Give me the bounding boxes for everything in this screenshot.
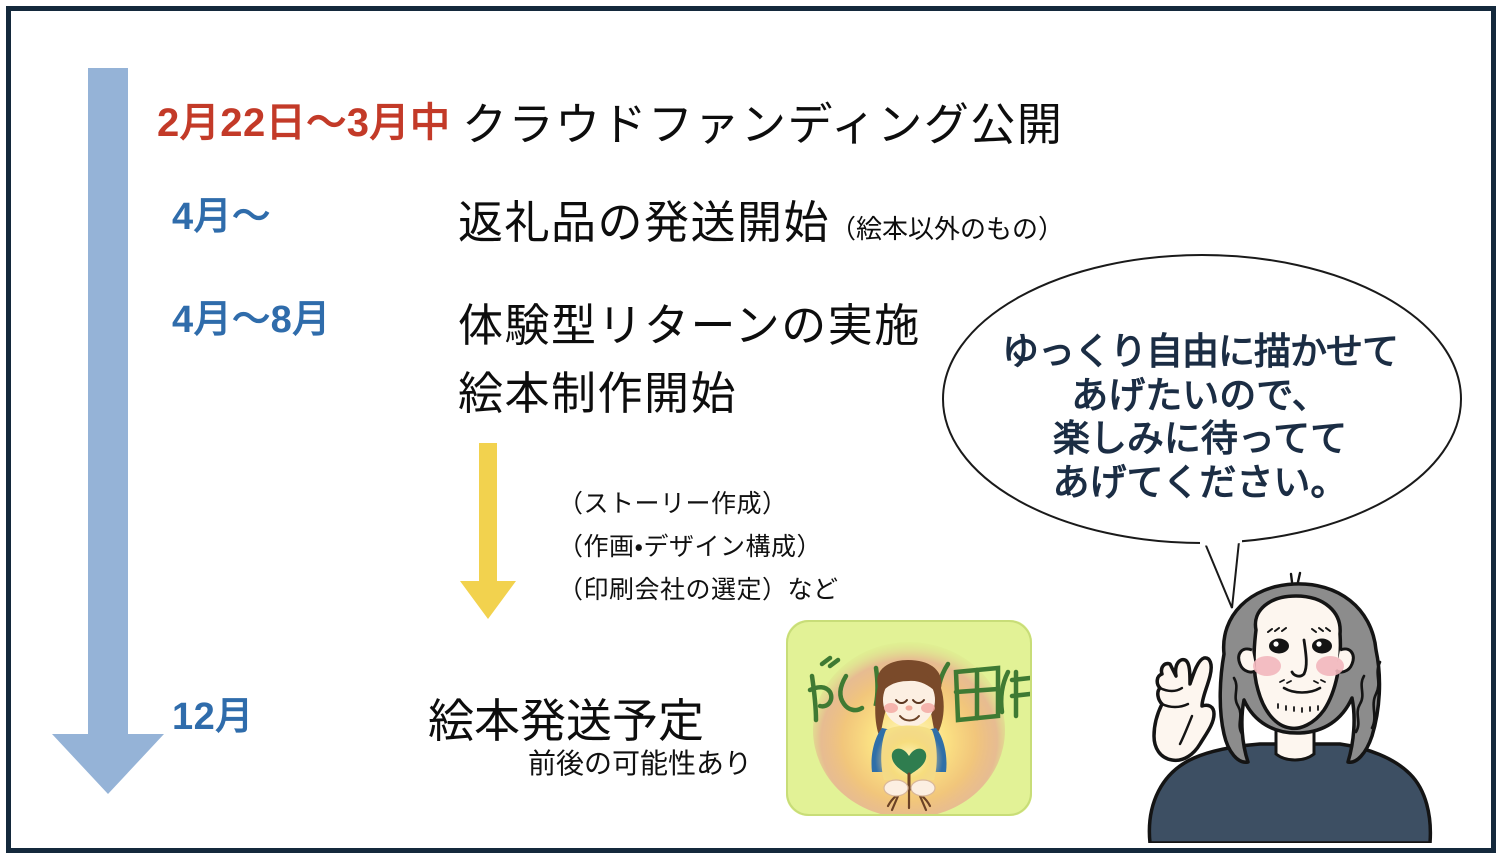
date-label-april-august: 4月～8月	[172, 288, 331, 343]
event-reward-shipping-note: （絵本以外のもの）	[830, 214, 1064, 244]
date-label-april: 4月～	[172, 185, 271, 240]
main-timeline-arrow	[52, 68, 164, 794]
production-note-design: （作画・デザイン構成）	[558, 527, 822, 563]
event-reward-shipping-label: 返礼品の発送開始	[458, 197, 830, 248]
event-book-production-start: 絵本制作開始	[458, 357, 737, 422]
date-label-december: 12月	[172, 685, 254, 740]
picture-book-cover	[786, 620, 1032, 816]
date-label-crowdfunding: 2月22日～3月中	[157, 90, 450, 148]
event-reward-shipping: 返礼品の発送開始（絵本以外のもの）	[458, 186, 1064, 251]
production-note-printer: （印刷会社の選定）など	[558, 570, 839, 606]
speech-bubble	[930, 250, 1475, 625]
slide-canvas: 2月22日～3月中 4月～ 4月～8月 12月 クラウドファンディング公開 返礼…	[0, 0, 1508, 864]
event-experience-returns: 体験型リターンの実施	[458, 289, 921, 354]
event-book-shipping-note: 前後の可能性あり	[528, 742, 752, 782]
production-arrow	[458, 443, 516, 619]
event-crowdfunding-launch: クラウドファンディング公開	[462, 88, 1063, 153]
production-note-story: （ストーリー作成）	[558, 484, 788, 520]
